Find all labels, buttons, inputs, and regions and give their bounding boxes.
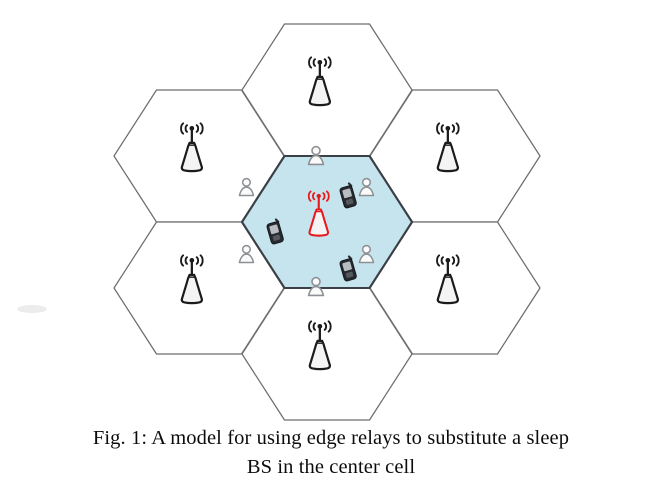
network-diagram: .hex-center { fill: #c5e4ed; stroke: #3b… xyxy=(0,0,662,497)
figure-root: .hex-center { fill: #c5e4ed; stroke: #3b… xyxy=(0,0,662,497)
figure-caption-line-1: Fig. 1: A model for using edge relays to… xyxy=(0,424,662,453)
figure-caption-line-2: BS in the center cell xyxy=(0,453,662,482)
figure-caption: Fig. 1: A model for using edge relays to… xyxy=(0,424,662,482)
scan-smudge xyxy=(17,305,47,313)
